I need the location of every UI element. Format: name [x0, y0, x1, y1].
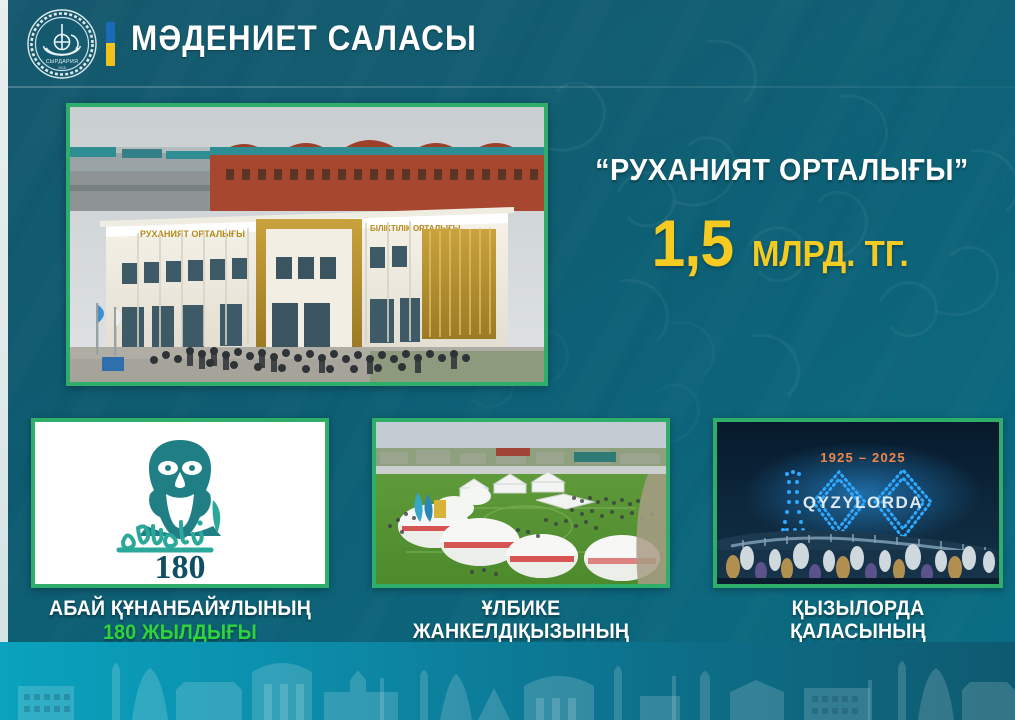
project-name-title: “РУХАНИЯТ ОРТАЛЫҒЫ”	[581, 152, 983, 188]
svg-text:2015: 2015	[58, 66, 66, 70]
card-caption-line1: АБАЙ ҚҰНАНБАЙҰЛЫНЫҢ	[41, 598, 318, 621]
drone-years-text: 1925 – 2025	[820, 450, 906, 465]
abai-180-logo-thumb: 180	[31, 418, 329, 588]
card-abai-180[interactable]: 180 АБАЙ ҚҰНАНБАЙҰЛЫНЫҢ 180 ЖЫЛДЫҒЫ	[31, 418, 329, 644]
kazakhstan-flag-bar-icon	[106, 22, 115, 66]
svg-text:180: 180	[155, 549, 206, 584]
city-skyline-silhouette-icon	[0, 642, 1015, 720]
card-caption: АБАЙ ҚҰНАНБАЙҰЛЫНЫҢ 180 ЖЫЛДЫҒЫ	[31, 598, 329, 644]
qyzylorda-100-drone-show-thumb: 1925 – 2025	[713, 418, 1003, 588]
ruhaniyat-center-building-photo: РУХАНИЯТ ОРТАЛЫҒЫ БІЛІКТІЛІК ОРТАЛЫҒЫ	[66, 103, 548, 386]
card-ulbike-200[interactable]: ҰЛБИКЕ ЖАНКЕЛДІҚЫЗЫНЫҢ 200 ЖЫЛДЫҒЫ	[372, 418, 670, 667]
svg-text:СЫРДАРИЯ: СЫРДАРИЯ	[46, 59, 79, 65]
page-title: МӘДЕНИЕТ САЛАСЫ	[131, 19, 477, 59]
project-amount-unit: МЛРД. ТГ.	[752, 236, 909, 272]
project-amount-row: 1,5МЛРД. ТГ.	[566, 210, 998, 276]
header-bar: СЫРДАРИЯ 2015 МӘДЕНИЕТ САЛАСЫ	[0, 0, 1015, 86]
slide-root: СЫРДАРИЯ 2015 МӘДЕНИЕТ САЛАСЫ	[0, 0, 1015, 720]
drone-city-text: QYZYLORDA	[803, 493, 923, 512]
svg-text:РУХАНИЯТ ОРТАЛЫҒЫ: РУХАНИЯТ ОРТАЛЫҒЫ	[140, 229, 245, 239]
card-caption-line1: ҰЛБИКЕ ЖАНКЕЛДІҚЫЗЫНЫҢ	[382, 598, 659, 643]
card-caption-line1: ҚЫЗЫЛОРДА ҚАЛАСЫНЫҢ	[723, 598, 993, 643]
qyzylorda-region-emblem-icon: СЫРДАРИЯ 2015	[26, 8, 98, 80]
yurt-festival-aerial-thumb	[372, 418, 670, 588]
header-divider	[8, 86, 1015, 88]
left-edge-strip	[0, 0, 8, 720]
project-amount-value: 1,5	[652, 210, 734, 276]
card-caption-line2: 180 ЖЫЛДЫҒЫ	[41, 621, 318, 645]
